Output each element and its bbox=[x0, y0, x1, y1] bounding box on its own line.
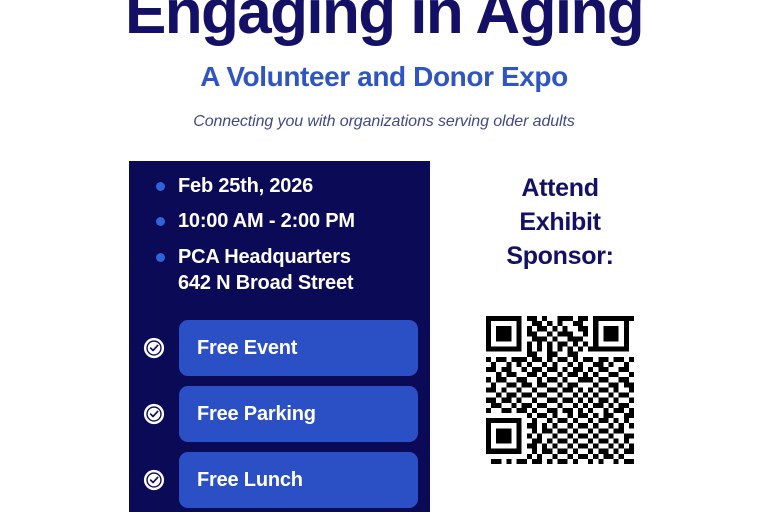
qr-code-image bbox=[486, 316, 634, 464]
event-location: PCA Headquarters 642 N Broad Street bbox=[178, 244, 353, 297]
perk-label: Free Lunch bbox=[197, 469, 303, 492]
perk-button-free-event[interactable]: Free Event bbox=[179, 320, 418, 376]
list-item: PCA Headquarters 642 N Broad Street bbox=[156, 244, 416, 297]
list-item: 10:00 AM - 2:00 PM bbox=[156, 208, 416, 234]
bullet-dot-icon bbox=[156, 253, 165, 262]
perk-row-free-event: Free Event bbox=[143, 320, 418, 376]
perk-list: Free Event Free Parking bbox=[143, 320, 418, 512]
event-detail-list: Feb 25th, 2026 10:00 AM - 2:00 PM PCA He… bbox=[156, 173, 416, 306]
perk-button-free-lunch[interactable]: Free Lunch bbox=[179, 452, 418, 508]
perk-row-free-parking: Free Parking bbox=[143, 386, 418, 442]
poster-canvas: Engaging in Aging A Volunteer and Donor … bbox=[0, 0, 768, 512]
bullet-dot-icon bbox=[156, 217, 165, 226]
event-info-panel: Feb 25th, 2026 10:00 AM - 2:00 PM PCA He… bbox=[129, 161, 430, 512]
qr-code[interactable] bbox=[486, 316, 634, 464]
check-circle-icon bbox=[143, 469, 165, 491]
page-tagline: Connecting you with organizations servin… bbox=[0, 112, 768, 131]
event-time: 10:00 AM - 2:00 PM bbox=[178, 208, 355, 234]
page-subtitle: A Volunteer and Donor Expo bbox=[0, 62, 768, 93]
page-title: Engaging in Aging bbox=[0, 0, 768, 44]
bullet-dot-icon bbox=[156, 182, 165, 191]
perk-button-free-parking[interactable]: Free Parking bbox=[179, 386, 418, 442]
perk-label: Free Event bbox=[197, 337, 297, 360]
perk-row-free-lunch: Free Lunch bbox=[143, 452, 418, 508]
perk-label: Free Parking bbox=[197, 403, 316, 426]
check-circle-icon bbox=[143, 403, 165, 425]
call-to-action-text: Attend Exhibit Sponsor: bbox=[452, 172, 668, 273]
check-circle-icon bbox=[143, 337, 165, 359]
list-item: Feb 25th, 2026 bbox=[156, 173, 416, 199]
event-date: Feb 25th, 2026 bbox=[178, 173, 313, 199]
